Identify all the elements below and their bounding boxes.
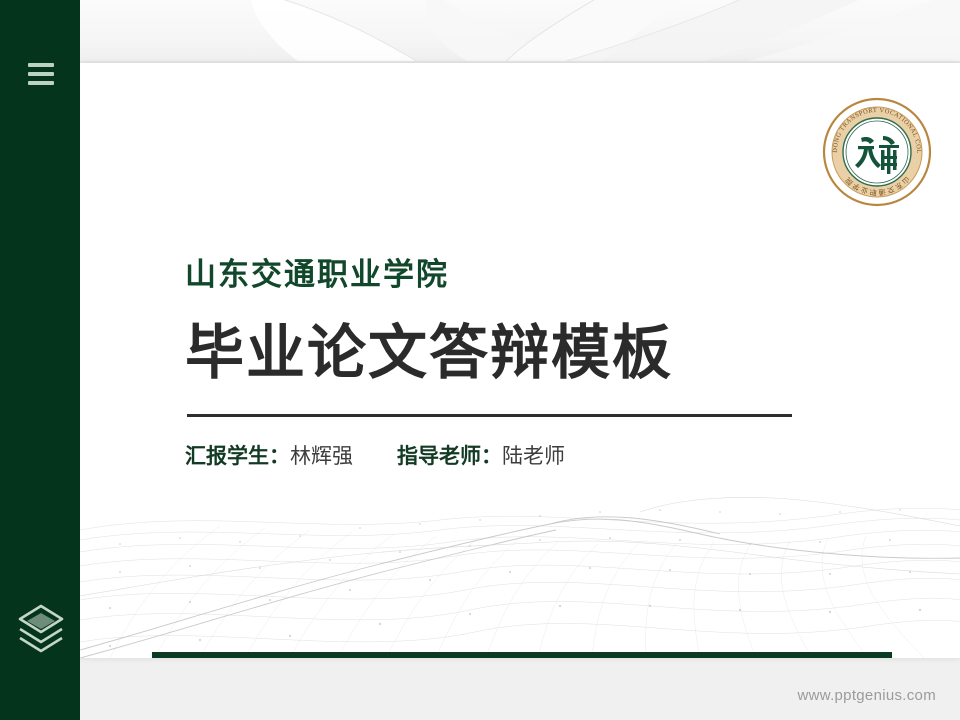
layers-stack-icon[interactable] (17, 602, 65, 654)
mesh-wave-graphic (80, 468, 960, 658)
top-decorative-band (0, 0, 960, 63)
college-seal-icon: SHANDONG TRANSPORT VOCATIONAL COLLEGE 山东… (821, 96, 933, 208)
page-title: 毕业论文答辩模板 (185, 324, 673, 383)
swoosh-decoration-icon (0, 0, 960, 63)
presentation-slide[interactable]: SHANDONG TRANSPORT VOCATIONAL COLLEGE 山东… (80, 63, 960, 658)
advisor-label: 指导老师： (397, 445, 502, 468)
left-sidebar-rail (0, 0, 80, 720)
school-name: 山东交通职业学院 (185, 259, 449, 290)
title-divider (187, 414, 792, 417)
presenter-label: 汇报学生： (185, 445, 290, 468)
presenter-advisor-line: 汇报学生：林辉强指导老师：陆老师 (185, 446, 565, 467)
presenter-name: 林辉强 (290, 445, 353, 468)
slide-viewer: SHANDONG TRANSPORT VOCATIONAL COLLEGE 山东… (0, 0, 960, 720)
footer-url: www.pptgenius.com (798, 687, 937, 704)
hamburger-menu-icon[interactable] (28, 63, 54, 85)
advisor-name: 陆老师 (502, 445, 565, 468)
slide-bottom-bar (152, 652, 892, 658)
